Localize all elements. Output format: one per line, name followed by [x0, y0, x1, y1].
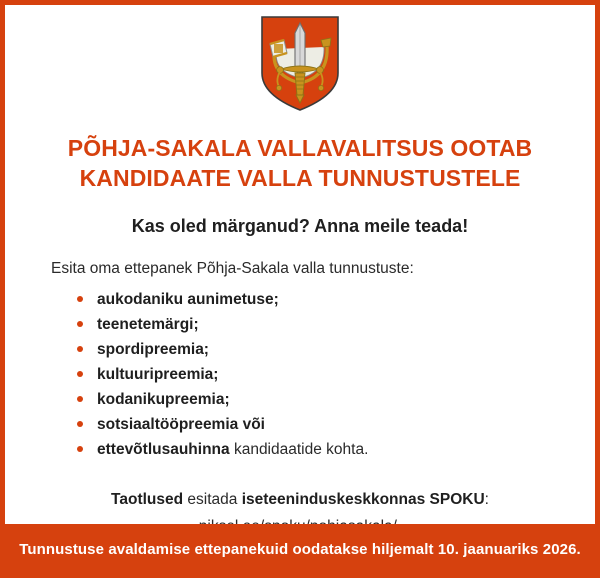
apply-middle: esitada: [183, 491, 242, 508]
page-title: PÕHJA-SAKALA VALLAVALITSUS OOTAB KANDIDA…: [45, 133, 555, 194]
intro-text: Esita oma ettepanek Põhja-Sakala valla t…: [51, 260, 595, 278]
list-item-label: aukodaniku aunimetuse;: [97, 291, 279, 308]
apply-colon: :: [485, 491, 489, 508]
tunnustused-list: aukodaniku aunimetuse; teenetemärgi; spo…: [5, 287, 595, 463]
list-item-label: spordipreemia;: [97, 341, 209, 358]
list-item: aukodaniku aunimetuse;: [75, 287, 595, 312]
list-item: teenetemärgi;: [75, 312, 595, 337]
list-item: spordipreemia;: [75, 337, 595, 362]
crest-container: [5, 5, 595, 113]
list-item-label: teenetemärgi;: [97, 316, 199, 333]
coat-of-arms-icon: [257, 13, 343, 113]
list-item-label: ettevõtlusauhinna: [97, 441, 230, 458]
list-item-label: kodanikupreemia;: [97, 391, 230, 408]
list-item: kultuuripreemia;: [75, 362, 595, 387]
title-line-2: KANDIDAATE VALLA TUNNUSTUSTELE: [45, 163, 555, 193]
deadline-text: Tunnustuse avaldamise ettepanekuid oodat…: [19, 541, 581, 562]
apply-lead: Taotlused: [111, 491, 183, 508]
list-item-rest: kandidaatide kohta.: [230, 441, 369, 458]
subtitle: Kas oled märganud? Anna meile teada!: [35, 216, 565, 237]
list-item-label: sotsiaaltööpreemia või: [97, 416, 265, 433]
poster-container: PÕHJA-SAKALA VALLAVALITSUS OOTAB KANDIDA…: [0, 0, 600, 578]
list-item: ettevõtlusauhinna kandidaatide kohta.: [75, 437, 595, 462]
deadline-banner: Tunnustuse avaldamise ettepanekuid oodat…: [5, 524, 595, 578]
list-item: kodanikupreemia;: [75, 387, 595, 412]
list-item: sotsiaaltööpreemia või: [75, 412, 595, 437]
list-item-label: kultuuripreemia;: [97, 366, 218, 383]
apply-channel: iseteeninduskeskkonnas SPOKU: [242, 491, 485, 508]
title-line-1: PÕHJA-SAKALA VALLAVALITSUS OOTAB: [45, 133, 555, 163]
